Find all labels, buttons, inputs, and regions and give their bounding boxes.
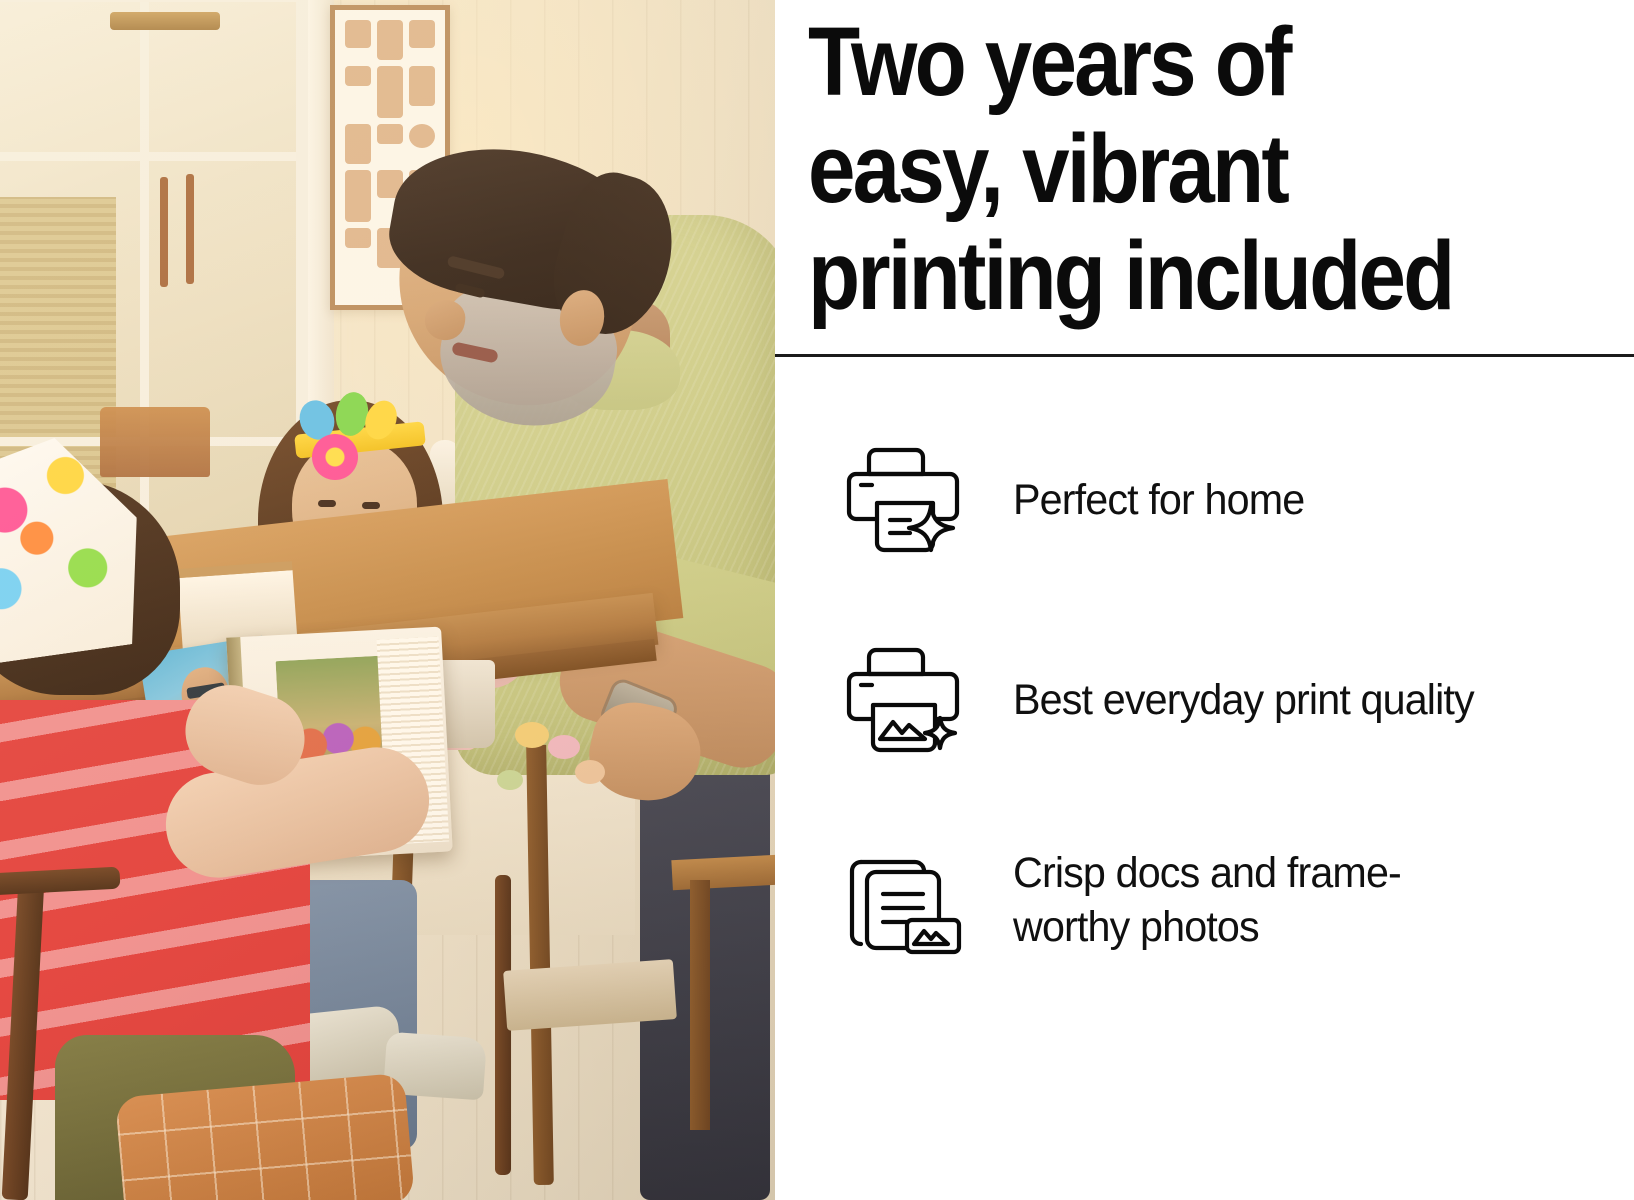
- paper-petal: [548, 735, 580, 759]
- chair-seat: [503, 959, 677, 1031]
- girl-eye: [318, 500, 336, 507]
- crown-flower: [312, 434, 358, 480]
- hanging-strap: [186, 174, 194, 284]
- side-table-leg: [690, 880, 710, 1130]
- window-mullion-horizontal: [0, 152, 296, 161]
- headline: Two years of easy, vibrant printing incl…: [808, 8, 1516, 329]
- window-shelf: [110, 12, 220, 30]
- horizontal-divider: [775, 354, 1634, 357]
- hanging-strap: [160, 177, 168, 287]
- photo-scene: [0, 0, 775, 1200]
- paper-petal: [575, 760, 605, 784]
- content-pane: Two years of easy, vibrant printing incl…: [775, 0, 1634, 1200]
- feature-item: Best everyday print quality: [775, 600, 1634, 800]
- lifestyle-photo: [0, 0, 775, 1200]
- documents-photo-icon: [837, 841, 969, 959]
- promo-banner: Two years of easy, vibrant printing incl…: [0, 0, 1634, 1200]
- feature-list: Perfect for home: [775, 400, 1634, 1000]
- feature-label: Best everyday print quality: [1013, 673, 1474, 727]
- feature-label: Crisp docs and frame- worthy photos: [1013, 846, 1401, 954]
- paper-petal: [515, 722, 549, 748]
- feature-label: Perfect for home: [1013, 473, 1304, 527]
- girl-eye: [362, 502, 380, 509]
- feature-item: Crisp docs and frame- worthy photos: [775, 800, 1634, 1000]
- wooden-object: [100, 407, 210, 477]
- paper-petal: [497, 770, 523, 790]
- printer-photo-sparkle-icon: [837, 641, 969, 759]
- feature-item: Perfect for home: [775, 400, 1634, 600]
- printer-document-sparkle-icon: [837, 441, 969, 559]
